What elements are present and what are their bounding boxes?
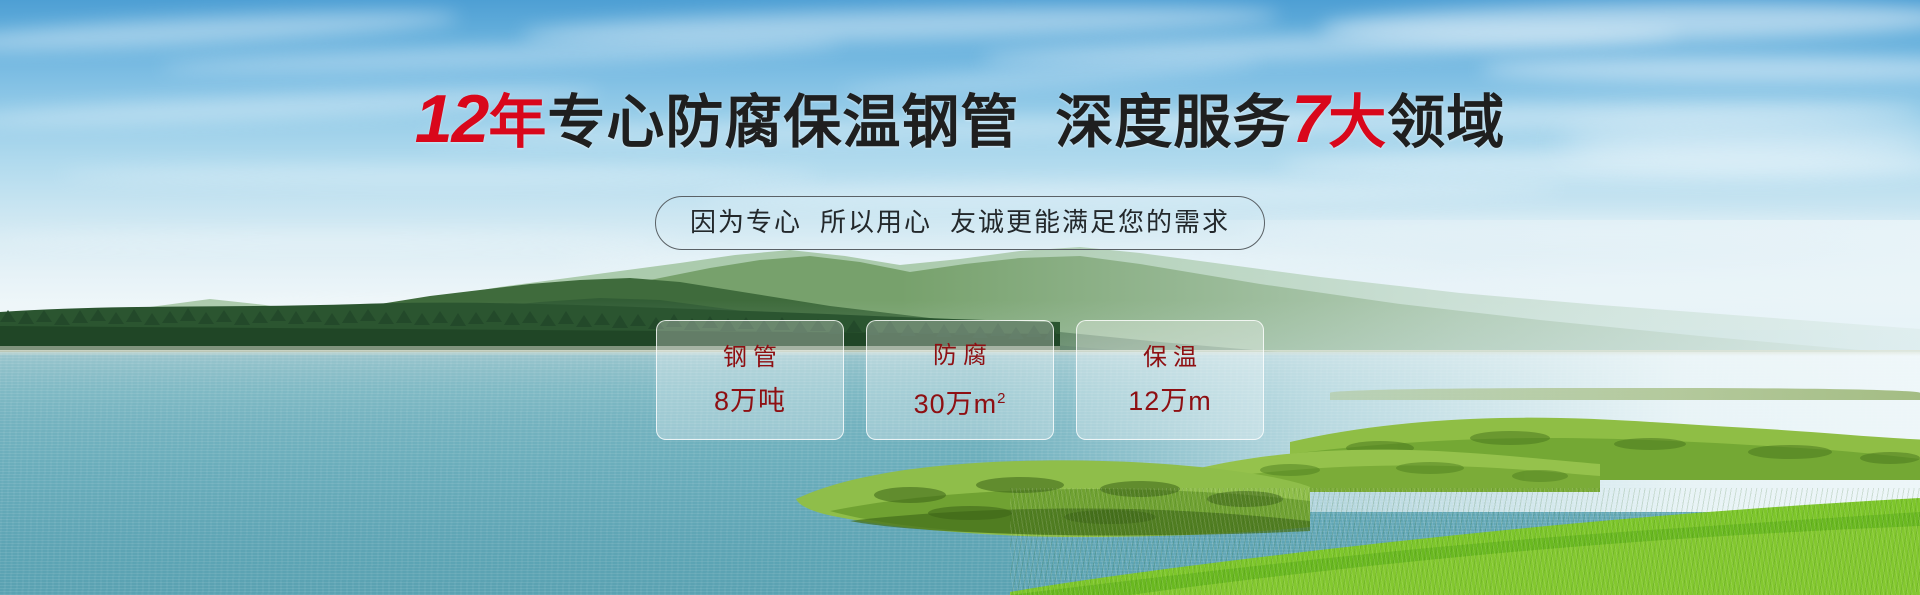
- grass-blade-texture: [1010, 488, 1920, 595]
- headline-fields-unit: 大: [1328, 90, 1387, 155]
- stat-card-anticorrosion[interactable]: 防腐 30万m2: [866, 320, 1054, 440]
- cloud-streak-icon: [1480, 56, 1920, 82]
- stat-card-insulation[interactable]: 保温 12万m: [1076, 320, 1264, 440]
- stat-card-label: 防腐: [927, 341, 993, 371]
- subtitle-container: 因为专心所以用心友诚更能满足您的需求: [0, 196, 1920, 250]
- stat-card-group: 钢管 8万吨 防腐 30万m2 保温 12万m: [0, 320, 1920, 440]
- subtitle-pill: 因为专心所以用心友诚更能满足您的需求: [655, 196, 1265, 250]
- headline-years-unit: 年: [488, 90, 547, 155]
- stat-card-label: 保温: [1137, 343, 1203, 373]
- page-title: 12年专心防腐保温钢管深度服务7大领域: [0, 86, 1920, 156]
- subtitle-segment-two: 所以用心: [820, 207, 932, 237]
- subtitle-segment-three: 友诚更能满足您的需求: [950, 207, 1230, 237]
- cloud-streak-icon: [60, 166, 820, 184]
- headline-segment-three: 深度服务: [1055, 90, 1291, 155]
- stat-card-value-superscript: 2: [997, 390, 1006, 407]
- stat-card-label: 钢管: [717, 343, 783, 373]
- stat-card-steel-pipe[interactable]: 钢管 8万吨: [656, 320, 844, 440]
- stat-card-value: 8万吨: [714, 385, 786, 417]
- stat-card-value-text: 8万吨: [714, 386, 786, 416]
- cloud-streak-icon: [980, 22, 1680, 70]
- sky-background: [0, 0, 1920, 330]
- cloud-streak-icon: [0, 4, 460, 57]
- cloud-streak-icon: [520, 0, 1281, 50]
- stat-card-value: 12万m: [1128, 385, 1212, 417]
- cloud-streak-icon: [160, 34, 840, 78]
- stat-card-value: 30万m2: [914, 383, 1007, 420]
- cloud-streak-icon: [1380, 276, 1920, 296]
- headline-segment-two: 专心防腐保温钢管: [547, 90, 1019, 155]
- hero-banner: 12年专心防腐保温钢管深度服务7大领域 因为专心所以用心友诚更能满足您的需求 钢…: [0, 0, 1920, 595]
- cloud-streak-icon: [1320, 0, 1920, 48]
- cloud-streak-icon: [560, 250, 1440, 268]
- headline-segment-five: 领域: [1387, 90, 1505, 155]
- stat-card-value-text: 12万m: [1128, 386, 1212, 416]
- stat-card-value-text: 30万m: [914, 389, 998, 419]
- headline-fields-number: 7: [1291, 81, 1328, 157]
- subtitle-segment-one: 因为专心: [690, 207, 802, 237]
- headline-years-number: 12: [415, 81, 489, 157]
